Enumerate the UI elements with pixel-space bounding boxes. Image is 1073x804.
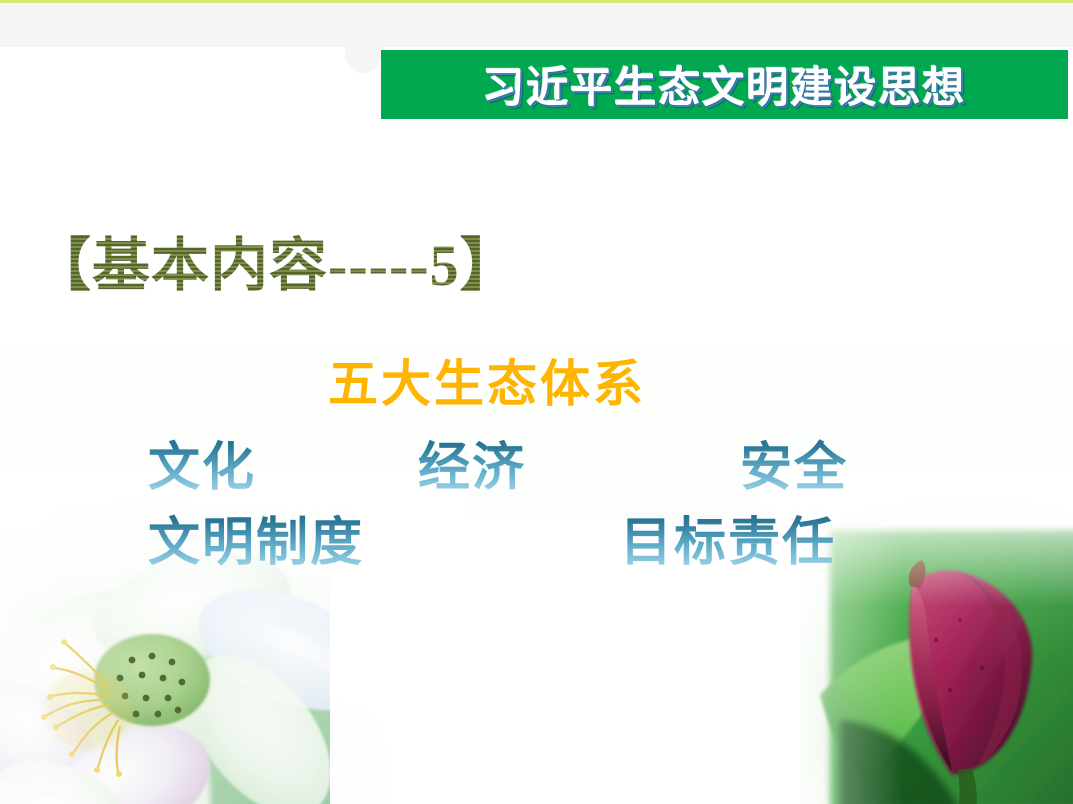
- banner-title: 习近平生态文明建设思想: [482, 54, 966, 115]
- keyword-economy: 经济: [418, 425, 526, 500]
- page-title: 【基本内容-----5】: [33, 218, 519, 302]
- header-banner: 习近平生态文明建设思想: [381, 50, 1068, 119]
- topic-heading: 五大生态体系: [328, 344, 646, 416]
- lotus-bud-photo: [800, 520, 1073, 804]
- keyword-civilized-system: 文明制度: [148, 500, 364, 575]
- keyword-target-responsibility: 目标责任: [620, 500, 836, 575]
- top-band-notch: [345, 47, 381, 73]
- slide-canvas: 习近平生态文明建设思想 【基本内容-----5】 五大生态体系 文化 经济 安全…: [0, 0, 1073, 804]
- top-gray-band: [0, 3, 1073, 47]
